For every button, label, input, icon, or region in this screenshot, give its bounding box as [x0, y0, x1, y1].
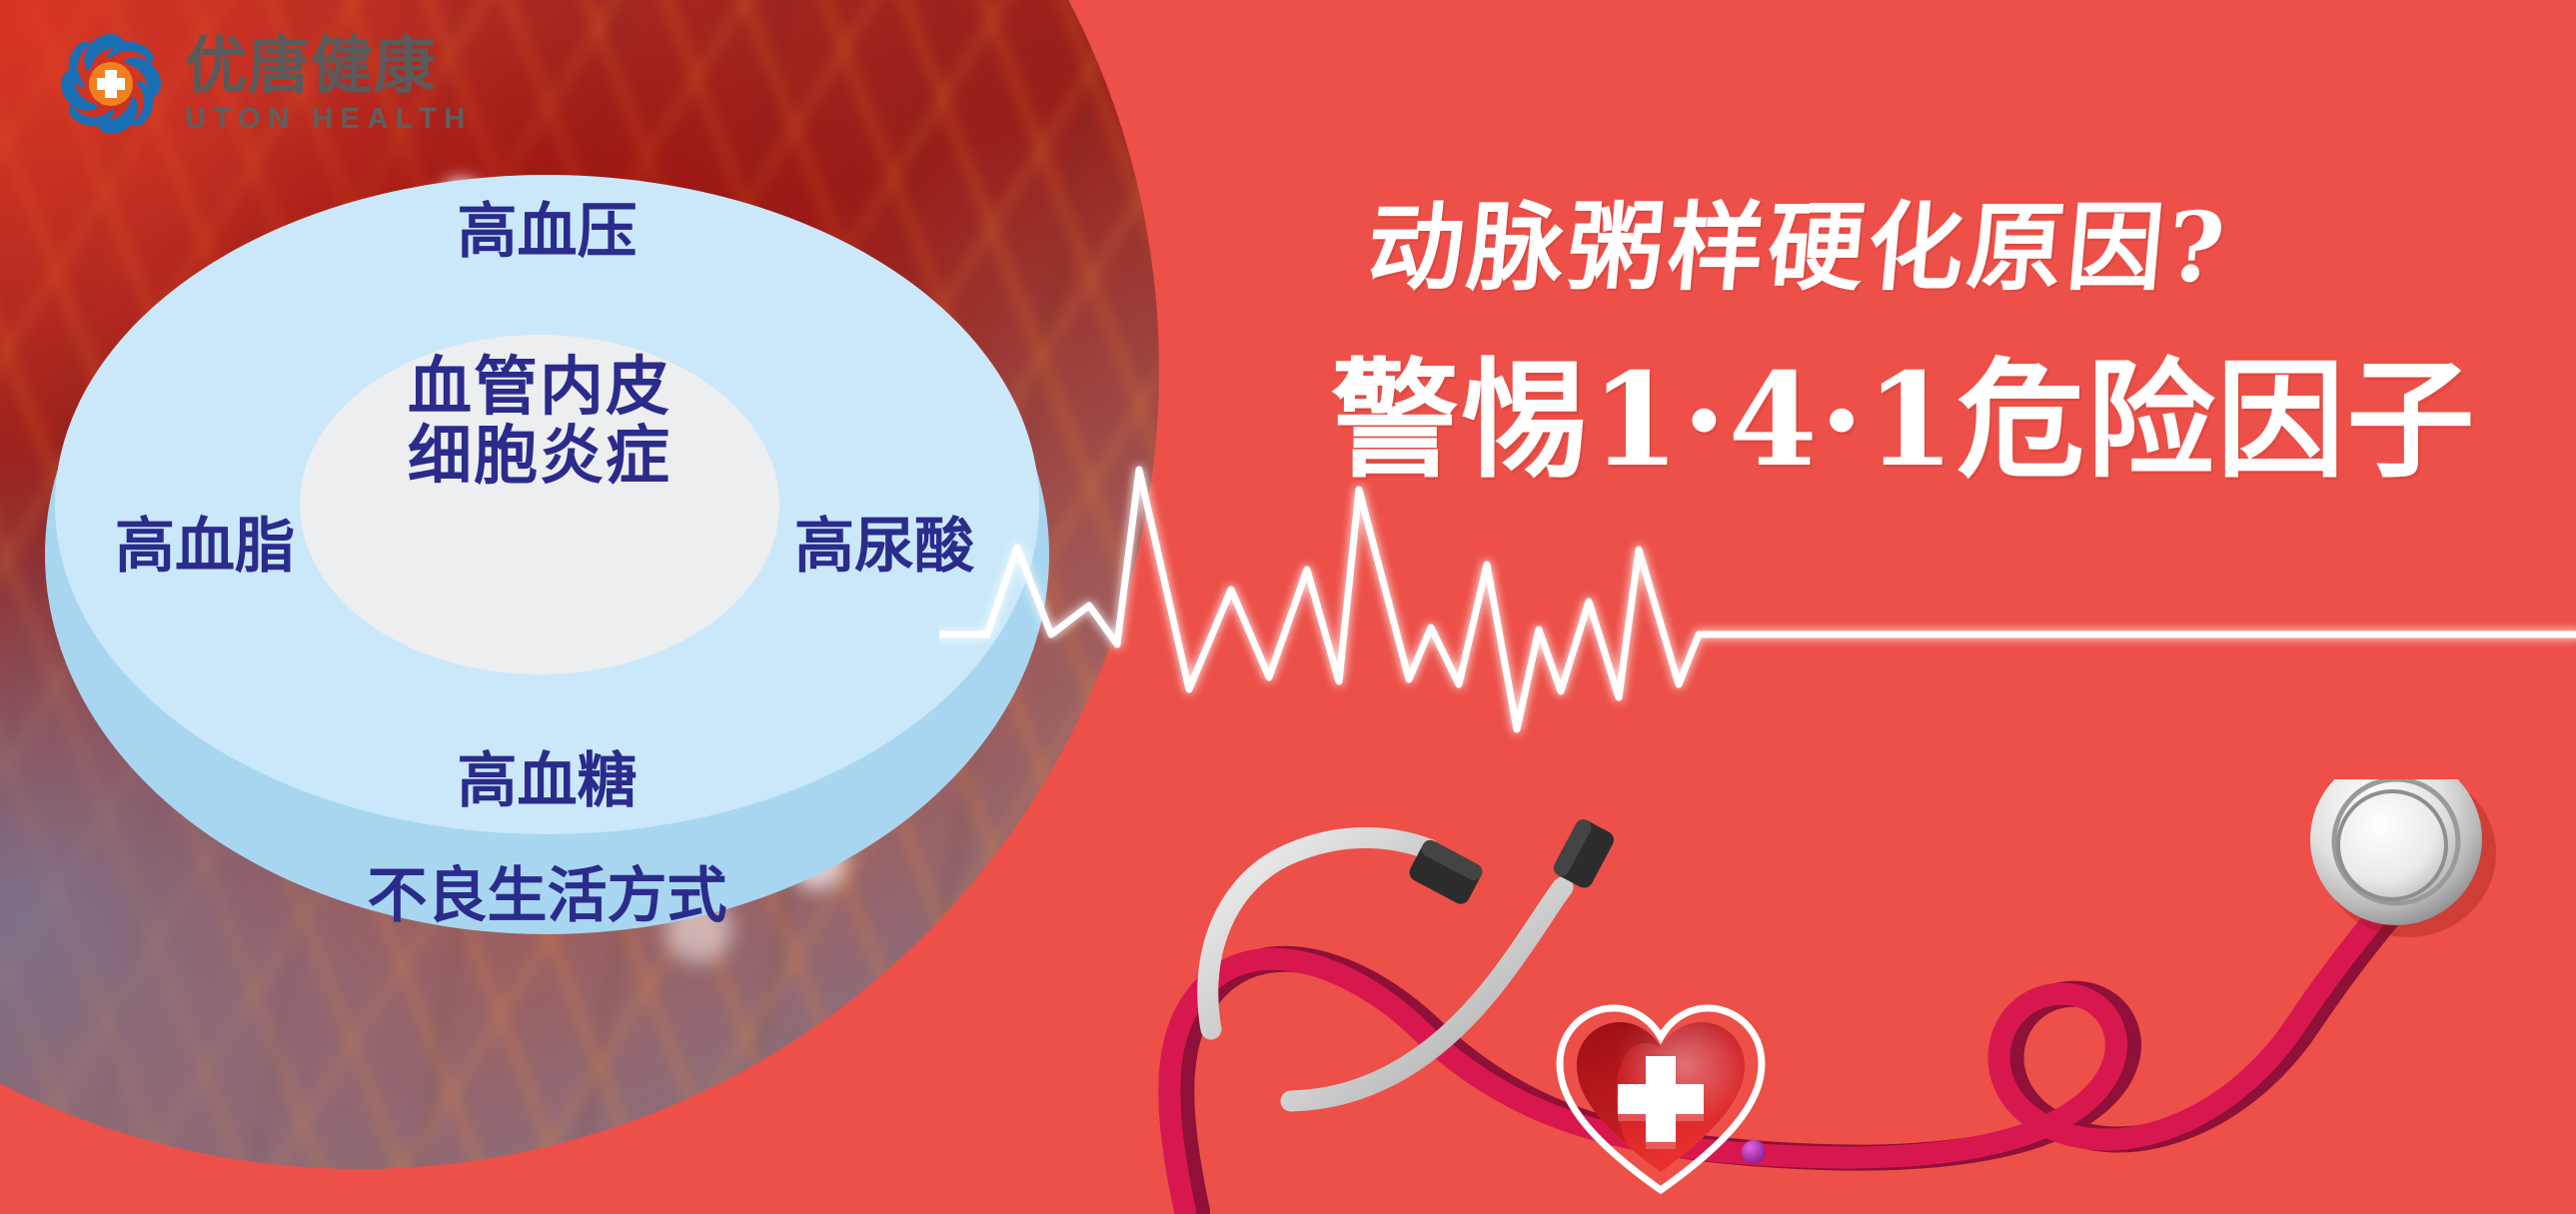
diagram-core-line-2: 细胞炎症 [300, 422, 779, 491]
headline-question: 动脉粥样硬化原因? [1363, 170, 2482, 309]
brand-name-en: UTON HEALTH [185, 105, 473, 134]
heart-with-cross-icon [1554, 994, 1769, 1199]
brand-logo-text: 优唐健康 UTON HEALTH [185, 35, 473, 134]
medical-cross-swirl-logo-icon [55, 28, 167, 140]
diagram-label-hyperglycemia: 高血糖 [45, 749, 1049, 814]
diagram-label-core: 血管内皮 细胞炎症 [300, 353, 779, 491]
risk-factor-diagram: 高血压 高血脂 高尿酸 血管内皮 细胞炎症 高血糖 不良生活方式 [45, 175, 1049, 934]
diagram-label-lifestyle: 不良生活方式 [45, 864, 1049, 929]
diagram-core-line-1: 血管内皮 [300, 353, 779, 422]
poster-canvas: 优唐健康 UTON HEALTH 高血压 高血脂 高尿酸 血管内皮 细胞炎症 高… [0, 0, 2576, 1214]
brand-name-cn: 优唐健康 [185, 35, 473, 97]
stethoscope-icon [1079, 779, 2576, 1214]
brand-logo: 优唐健康 UTON HEALTH [55, 28, 473, 140]
headline-group: 动脉粥样硬化原因? 警惕1·4·1危险因子 [1369, 170, 2476, 502]
diagram-label-hypertension: 高血压 [45, 200, 1049, 265]
diagram-label-hyperlipidemia: 高血脂 [70, 515, 340, 580]
diagram-label-hyperuricemia: 高尿酸 [744, 515, 1024, 580]
headline-main: 警惕1·4·1危险因子 [1331, 317, 2476, 502]
